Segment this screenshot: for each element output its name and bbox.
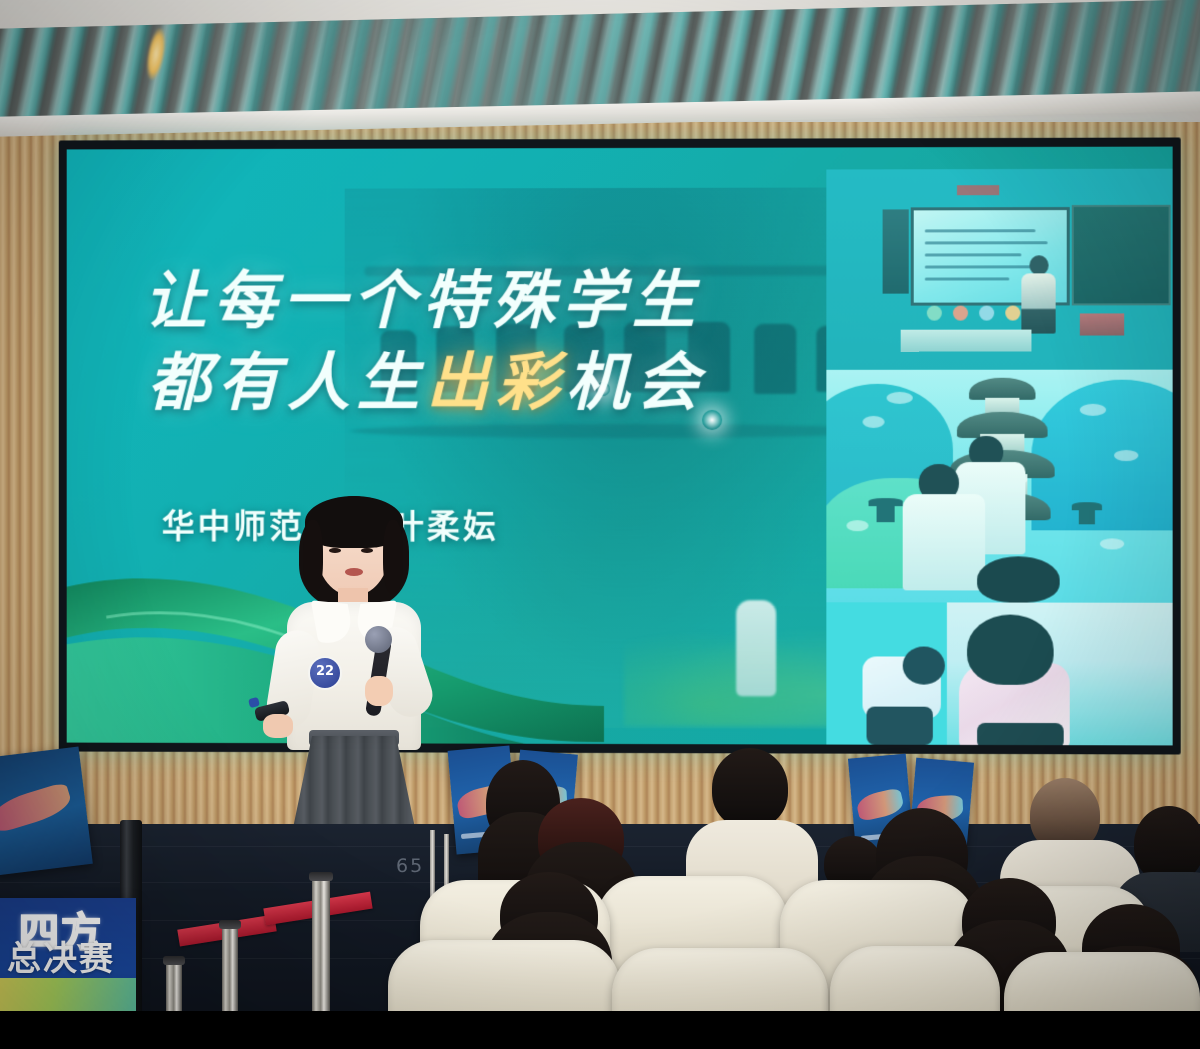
teacher-helping-child-photo [826, 602, 1172, 745]
left-event-banner: 四方 总决赛 [0, 898, 136, 1020]
mural-painting-photo [826, 370, 1172, 603]
sparkle-icon [596, 382, 610, 396]
presenter-eye [329, 548, 341, 553]
stage-marking: 65 [396, 855, 424, 877]
headline-line2-part-a: 都有人生 [148, 345, 426, 419]
presenter-hand-right [365, 676, 393, 706]
headline-line-1: 让每一个特殊学生 [144, 260, 863, 343]
headline-line-2: 都有人生出彩机会 [148, 342, 863, 424]
classroom-smartboard-photo [826, 169, 1172, 370]
slide-headline: 让每一个特殊学生 都有人生出彩机会 [144, 260, 863, 424]
headline-line2-part-b: 机会 [566, 345, 706, 419]
led-screen-frame: 孩子 生 的 明天 [59, 137, 1181, 754]
letterbox-bar [0, 1011, 1200, 1049]
presenter-eye [361, 548, 373, 553]
slide-photo-column [826, 147, 1172, 746]
stage-presentation-photo: 孩子 生 的 明天 [0, 0, 1200, 1049]
audience-head [712, 748, 788, 828]
photo-teal-wash [826, 169, 1172, 370]
barrier-stanchion-cap [219, 920, 241, 929]
standee-ribbon-graphic [0, 782, 74, 834]
sparkle-icon [702, 410, 722, 430]
ceiling [0, 0, 1200, 122]
left-upper-standee [0, 746, 93, 875]
barrier-stanchion-cap [309, 872, 333, 881]
microphone-head [365, 626, 392, 653]
barrier-stanchion [312, 878, 330, 1032]
slide-bg-stage-edge [351, 424, 891, 438]
barrier-stanchion-cap [163, 956, 185, 965]
photo-teal-wash [826, 370, 1172, 603]
presenter-mouth [345, 568, 363, 576]
headline-line2-gold: 出彩 [426, 345, 566, 419]
contestant-number-badge: 22 [308, 656, 342, 690]
banner-subtitle-text: 总决赛 [0, 931, 136, 980]
presenter-hair-side [303, 520, 323, 594]
led-screen: 孩子 生 的 明天 [67, 147, 1173, 746]
audience-head [1134, 806, 1200, 882]
presenter-hand-left [263, 714, 293, 738]
photo-teal-wash [826, 602, 1172, 745]
presenter-hair-side [383, 520, 403, 594]
slide-bg-figure [736, 600, 776, 696]
